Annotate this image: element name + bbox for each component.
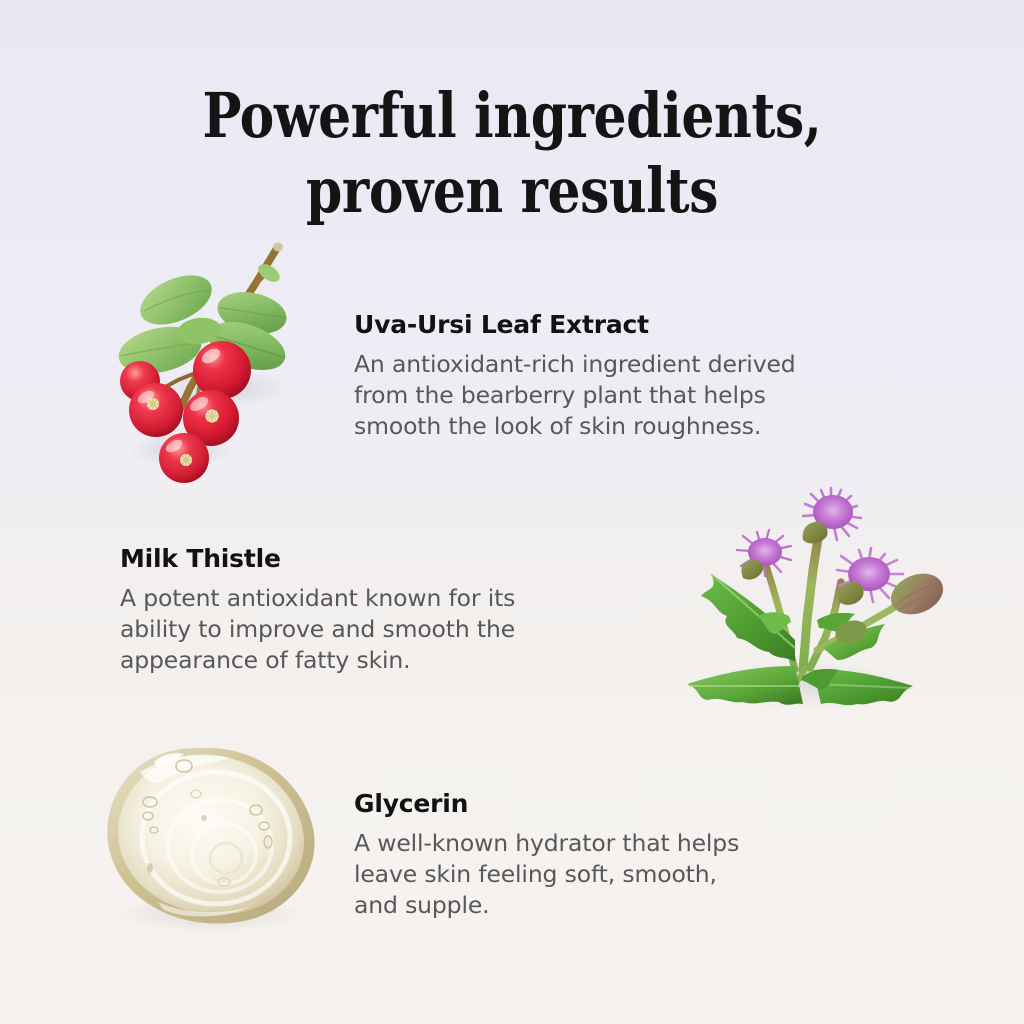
berry-2-calyx — [147, 398, 159, 410]
berry-3-calyx — [205, 409, 219, 423]
flower-top-bracts — [803, 522, 828, 543]
ingredients-poster: Powerful ingredients, proven results — [0, 0, 1024, 1024]
page-title-line-1: Powerful ingredients, — [203, 79, 822, 152]
page-title: Powerful ingredients, proven results — [36, 78, 988, 228]
stem-tip — [273, 243, 283, 252]
ingredient-name: Glycerin — [354, 789, 914, 819]
gel-bubble-10 — [147, 863, 153, 873]
ingredient-name: Milk Thistle — [120, 544, 680, 574]
bearberry-sprig-image — [104, 238, 334, 488]
thistle-flower-top — [803, 488, 861, 543]
ingredient-name: Uva-Ursi Leaf Extract — [354, 310, 954, 340]
ingredient-block-glycerin: Glycerin A well-known hydrator that help… — [354, 789, 914, 921]
ingredient-block-uva-ursi: Uva-Ursi Leaf Extract An antioxidant-ric… — [354, 310, 954, 442]
page-title-line-2: proven results — [36, 153, 988, 228]
berry-1 — [193, 341, 251, 399]
berry-2 — [129, 383, 183, 437]
thistle-flower-left — [737, 530, 791, 580]
gel-bubble-11 — [201, 815, 207, 821]
berry-4-calyx — [180, 454, 192, 466]
glycerin-gel-image — [88, 742, 338, 934]
flower-left-bracts — [741, 560, 763, 580]
thistle-leaf-group — [687, 574, 913, 705]
ingredient-description: A well-known hydrator that helps leave s… — [354, 828, 914, 921]
milk-thistle-image — [645, 470, 955, 715]
ingredient-description: An antioxidant-rich ingredient derived f… — [354, 349, 954, 442]
ingredient-description: A potent antioxidant known for its abili… — [120, 583, 680, 676]
ingredient-block-milk-thistle: Milk Thistle A potent antioxidant known … — [120, 544, 680, 676]
